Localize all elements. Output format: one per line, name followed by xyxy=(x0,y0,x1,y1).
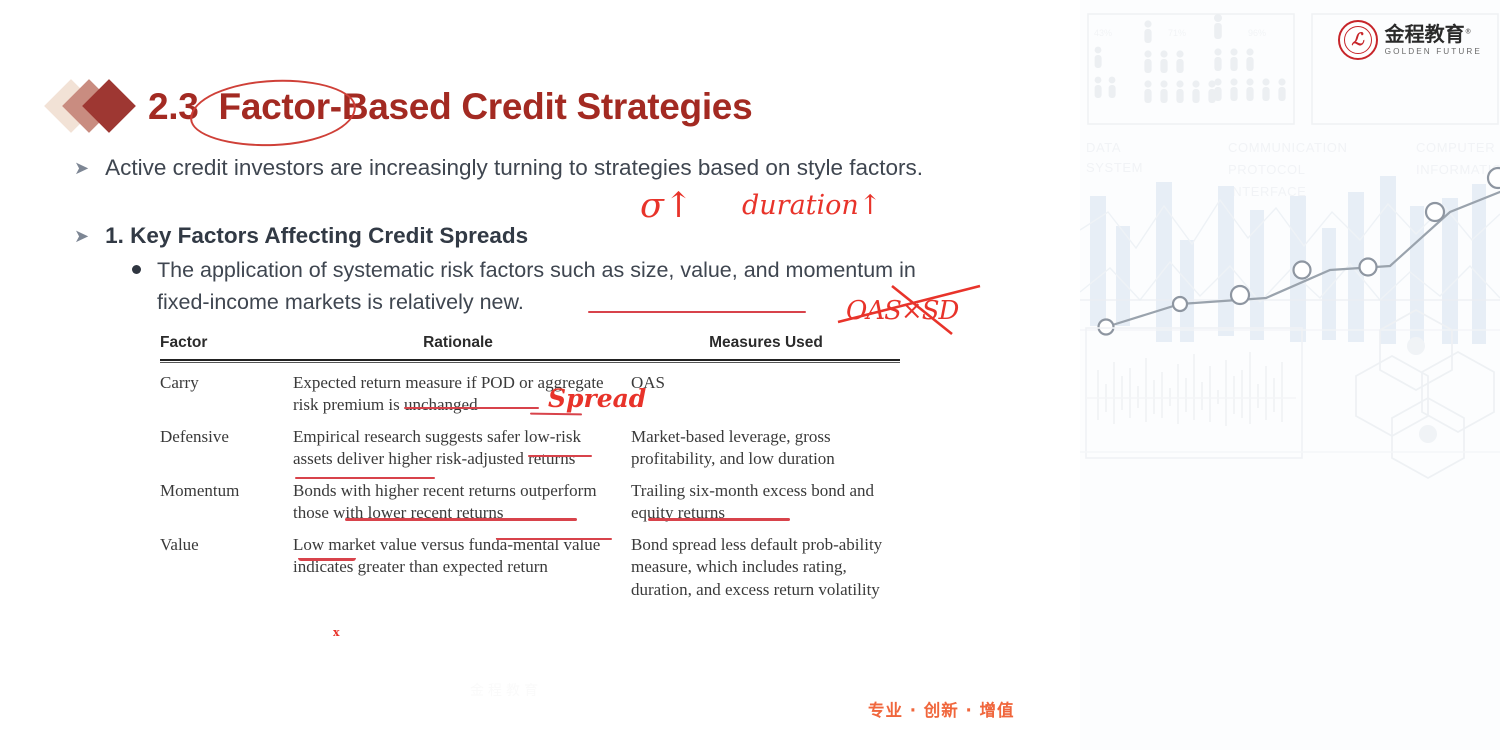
col-header-factor: Factor xyxy=(160,334,293,352)
annotation-small-mark: x xyxy=(333,626,340,639)
diamond-bullet-icon xyxy=(52,87,134,127)
svg-text:COMPUTER: COMPUTER xyxy=(1416,140,1495,155)
table-header-row: Factor Rationale Measures Used xyxy=(160,334,900,359)
brand-name-cn: 金程教育® xyxy=(1385,24,1482,44)
svg-text:SYSTEM: SYSTEM xyxy=(1086,160,1143,175)
brand-text: 金程教育® GOLDEN FUTURE xyxy=(1385,24,1482,56)
brand-name-en: GOLDEN FUTURE xyxy=(1385,47,1482,56)
presentation-slide: 2.3 Factor-Based Credit Strategies ➤ Act… xyxy=(0,0,1080,750)
arrow-bullet-icon: ➤ xyxy=(74,227,89,245)
table-row: Defensive Empirical research suggests sa… xyxy=(160,426,900,471)
col-header-rationale: Rationale xyxy=(293,334,631,352)
svg-text:96%: 96% xyxy=(1248,28,1266,38)
svg-text:DATA: DATA xyxy=(1086,140,1121,155)
slide-viewer: 2.3 Factor-Based Credit Strategies ➤ Act… xyxy=(0,0,1500,750)
cell-factor: Momentum xyxy=(160,480,293,525)
cell-rationale: Empirical research suggests safer low-ri… xyxy=(293,426,631,471)
bullet-1-text: Active credit investors are increasingly… xyxy=(105,152,975,185)
decorative-infographic-background: 43%71%96% DATA SYSTEM COMMUNICATION PROT… xyxy=(1080,0,1500,750)
table-row: Carry Expected return measure if POD or … xyxy=(160,372,900,417)
bullet-3-text: The application of systematic risk facto… xyxy=(157,254,957,319)
title-label: Factor-Based Credit Strategies xyxy=(219,86,753,127)
cell-rationale: Low market value versus funda-mental val… xyxy=(293,534,631,601)
slide-watermark: 金程教育 xyxy=(470,680,542,700)
cell-measures: Bond spread less default prob-ability me… xyxy=(631,534,901,601)
cell-rationale: Bonds with higher recent returns outperf… xyxy=(293,480,631,525)
seal-letter: ℒ xyxy=(1352,30,1364,50)
table-rule-bottom xyxy=(160,362,900,363)
cell-rationale: Expected return measure if POD or aggreg… xyxy=(293,372,631,417)
annotation-duration-up: duration↑ xyxy=(742,190,881,221)
cell-measures: OAS xyxy=(631,372,901,417)
svg-text:43%: 43% xyxy=(1094,28,1112,38)
page-title: 2.3 Factor-Based Credit Strategies xyxy=(148,86,752,128)
brand-seal-icon: ℒ xyxy=(1338,20,1378,60)
right-side-panel: 43%71%96% DATA SYSTEM COMMUNICATION PROT… xyxy=(1080,0,1500,750)
bullet-item-3: The application of systematic risk facto… xyxy=(132,254,957,319)
bullet-item-1: ➤ Active credit investors are increasing… xyxy=(74,152,975,185)
brand-name-cn-label: 金程教育 xyxy=(1385,22,1465,46)
section-number: 2.3 xyxy=(148,86,199,127)
table-rule-top xyxy=(160,359,900,361)
svg-text:PROTOCOL: PROTOCOL xyxy=(1228,162,1306,177)
table-row: Value Low market value versus funda-ment… xyxy=(160,534,900,601)
slide-slogan: 专业 · 创新 · 增值 xyxy=(868,697,1015,721)
cell-factor: Carry xyxy=(160,372,293,417)
factors-table: Factor Rationale Measures Used Carry Exp… xyxy=(160,334,900,610)
bullet-item-2: ➤ 1. Key Factors Affecting Credit Spread… xyxy=(74,220,975,253)
cell-measures: Market-based leverage, gross profitabili… xyxy=(631,426,901,471)
cell-factor: Value xyxy=(160,534,293,601)
registered-mark: ® xyxy=(1465,27,1472,35)
bullet-2-text: 1. Key Factors Affecting Credit Spreads xyxy=(105,220,975,253)
cell-factor: Defensive xyxy=(160,426,293,471)
brand-logo: ℒ 金程教育® GOLDEN FUTURE xyxy=(1338,20,1482,60)
col-header-measures: Measures Used xyxy=(631,334,901,352)
slide-title-row: 2.3 Factor-Based Credit Strategies xyxy=(52,86,752,128)
table-row: Momentum Bonds with higher recent return… xyxy=(160,480,900,525)
svg-text:COMMUNICATION: COMMUNICATION xyxy=(1228,140,1348,155)
cell-measures: Trailing six-month excess bond and equit… xyxy=(631,480,901,525)
round-bullet-icon xyxy=(132,265,141,274)
arrow-bullet-icon: ➤ xyxy=(74,159,89,177)
svg-text:71%: 71% xyxy=(1168,28,1186,38)
